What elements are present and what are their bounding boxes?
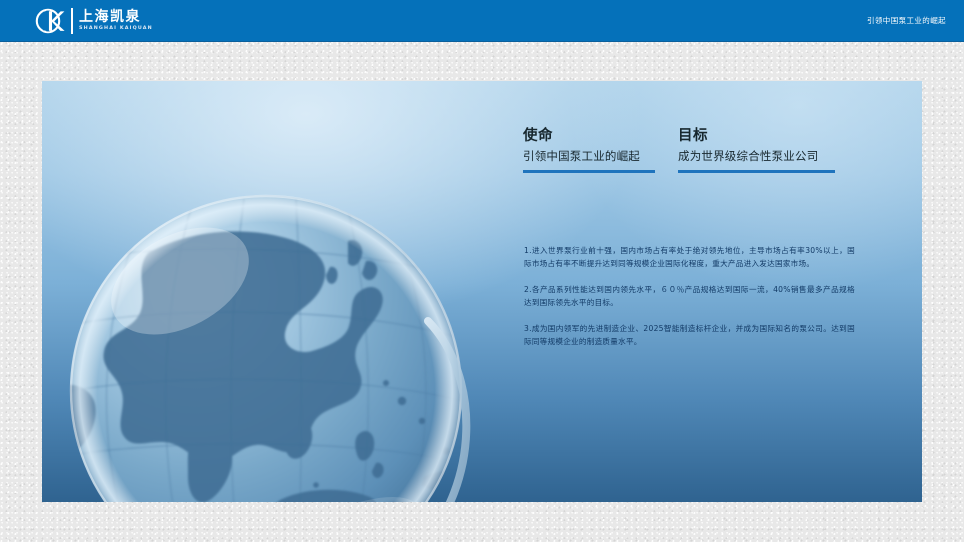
logo-text: 上海凯泉 SHANGHAI KAIQUAN bbox=[71, 8, 149, 34]
globe-illustration-icon bbox=[42, 133, 550, 502]
headings-row: 使命 引领中国泵工业的崛起 目标 成为世界级综合性泵业公司 bbox=[523, 128, 922, 173]
paragraph-1: 1.进入世界泵行业前十强，国内市场占有率处于绝对领先地位，主导市场占有率30%以… bbox=[524, 244, 855, 270]
kaiquan-circle-k-emblem-icon bbox=[35, 7, 65, 35]
mission-subtitle: 引领中国泵工业的崛起 bbox=[523, 150, 678, 164]
mission-accent-rule bbox=[523, 170, 655, 173]
company-logo[interactable]: 上海凯泉 SHANGHAI KAIQUAN bbox=[35, 6, 149, 36]
slide-canvas: 使命 引领中国泵工业的崛起 目标 成为世界级综合性泵业公司 1.进入世界泵行业前… bbox=[42, 81, 922, 502]
slide-content-column: 使命 引领中国泵工业的崛起 目标 成为世界级综合性泵业公司 1.进入世界泵行业前… bbox=[523, 81, 922, 502]
crystal-globe-image bbox=[42, 133, 550, 502]
mission-title: 使命 bbox=[523, 128, 678, 145]
paragraph-2: 2.各产品系列性能达到国内领先水平，６０％产品规格达到国际一流，40%销售最多产… bbox=[524, 283, 855, 309]
goal-title: 目标 bbox=[678, 128, 878, 145]
body-paragraphs: 1.进入世界泵行业前十强，国内市场占有率处于绝对领先地位，主导市场占有率30%以… bbox=[524, 244, 855, 348]
app-header-bar: 上海凯泉 SHANGHAI KAIQUAN 引领中国泵工业的崛起 bbox=[0, 0, 964, 42]
goal-subtitle: 成为世界级综合性泵业公司 bbox=[678, 150, 878, 164]
logo-chinese-name: 上海凯泉 bbox=[79, 10, 149, 24]
heading-block-mission: 使命 引领中国泵工业的崛起 bbox=[523, 128, 678, 173]
logo-english-name: SHANGHAI KAIQUAN bbox=[79, 27, 153, 32]
goal-accent-rule bbox=[678, 170, 835, 173]
paragraph-3: 3.成为国内领军的先进制造企业、2025智能制造标杆企业，并成为国际知名的泵公司… bbox=[524, 322, 855, 348]
header-tagline: 引领中国泵工业的崛起 bbox=[867, 0, 946, 41]
heading-block-goal: 目标 成为世界级综合性泵业公司 bbox=[678, 128, 878, 173]
